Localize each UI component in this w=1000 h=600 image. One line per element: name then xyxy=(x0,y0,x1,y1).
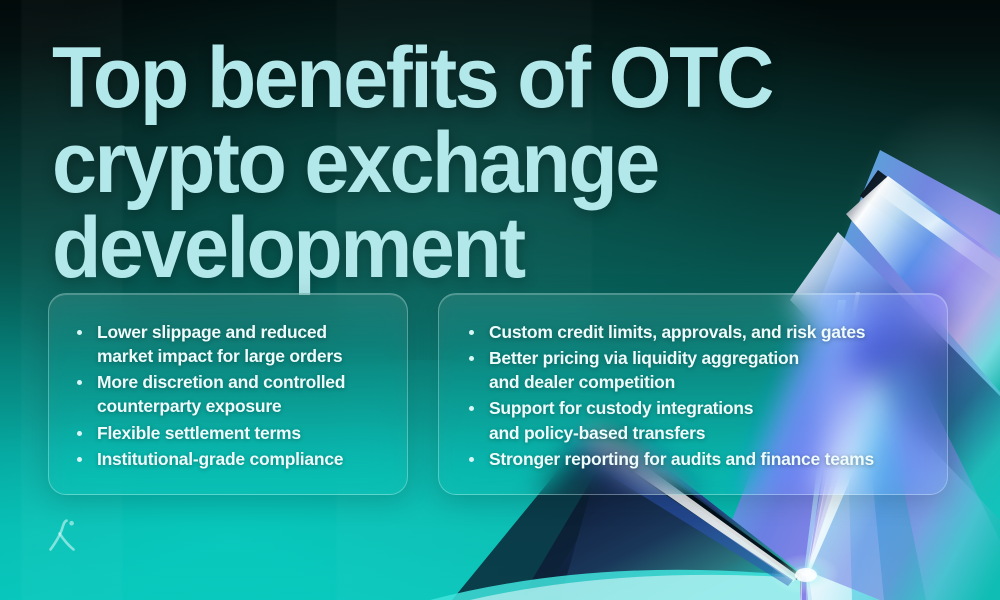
list-item: Stronger reporting for audits and financ… xyxy=(465,447,931,471)
benefits-list-left: Lower slippage and reduced market impact… xyxy=(73,320,391,473)
benefits-card-right: Custom credit limits, approvals, and ris… xyxy=(438,293,948,495)
benefits-list-right: Custom credit limits, approvals, and ris… xyxy=(465,320,931,473)
lambda-logo-icon xyxy=(46,516,86,558)
list-item: Support for custody integrations and pol… xyxy=(465,396,931,444)
list-item: More discretion and controlled counterpa… xyxy=(73,370,391,418)
page-title: Top benefits of OTC crypto exchange deve… xyxy=(52,36,917,291)
list-item: Flexible settlement terms xyxy=(73,421,391,445)
list-item: Lower slippage and reduced market impact… xyxy=(73,320,391,368)
list-item: Better pricing via liquidity aggregation… xyxy=(465,346,931,394)
list-item: Custom credit limits, approvals, and ris… xyxy=(465,320,931,344)
infographic-canvas: Top benefits of OTC crypto exchange deve… xyxy=(0,0,1000,600)
list-item: Institutional-grade compliance xyxy=(73,447,391,471)
benefits-card-left: Lower slippage and reduced market impact… xyxy=(48,293,408,495)
